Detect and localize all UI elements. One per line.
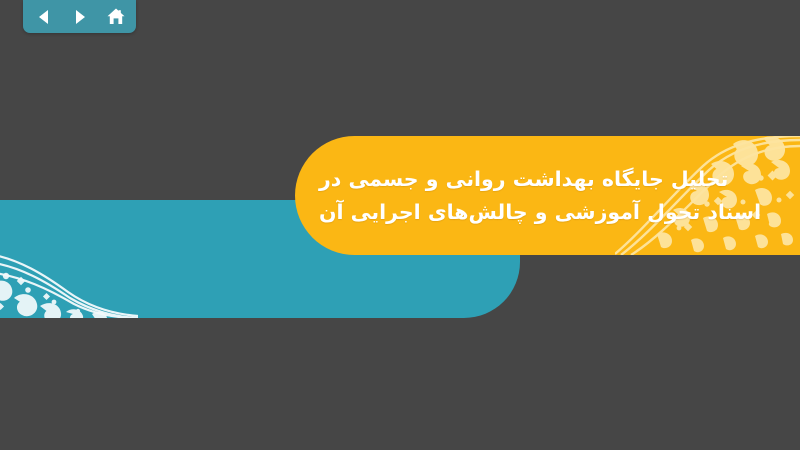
triangle-right-icon bbox=[71, 8, 89, 26]
title-line-1: تحلیل جایگاه بهداشت روانی و جسمی در bbox=[319, 164, 728, 195]
home-button[interactable] bbox=[103, 4, 129, 30]
back-button[interactable] bbox=[31, 4, 57, 30]
title-line-2: اسناد تحول آموزشی و چالش‌های اجرایی آن bbox=[319, 197, 761, 228]
triangle-left-icon bbox=[35, 8, 53, 26]
page-title: تحلیل جایگاه بهداشت روانی و جسمی در اسنا… bbox=[319, 136, 734, 255]
house-icon bbox=[106, 7, 126, 27]
title-banner: تحلیل جایگاه بهداشت روانی و جسمی در اسنا… bbox=[295, 136, 800, 255]
forward-button[interactable] bbox=[67, 4, 93, 30]
arabesque-corner-ornament bbox=[0, 228, 138, 318]
navigation-toolbar[interactable] bbox=[23, 0, 136, 33]
slide-canvas: تحلیل جایگاه بهداشت روانی و جسمی در اسنا… bbox=[0, 0, 800, 450]
